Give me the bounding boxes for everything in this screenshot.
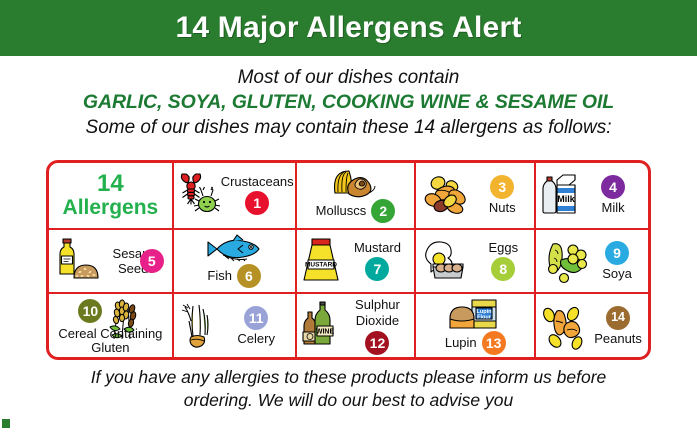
allergen-badge-1: 1 — [245, 191, 269, 215]
allergen-badge-3: 3 — [490, 175, 514, 199]
allergen-label: Milk — [601, 201, 624, 215]
mixed-nuts-icon — [419, 170, 473, 220]
celery-stalks-icon — [177, 301, 221, 351]
allergen-cell-sesame-seeds[interactable]: Sesame Seeds 5 — [49, 230, 172, 293]
allergen-badge-2: 2 — [371, 199, 395, 223]
footer-line-1: If you have any allergies to these produ… — [0, 366, 697, 389]
fish-icon — [203, 234, 265, 264]
allergen-badge-4: 4 — [601, 175, 625, 199]
mustard-text: Mustard 7 — [344, 241, 412, 281]
lobster-crab-icon — [177, 170, 223, 220]
molluscs-text: Molluscs 2 — [300, 167, 412, 223]
sulphur-dioxide-text: Sulphur Dioxide 12 — [344, 297, 412, 355]
svg-text:WINE: WINE — [315, 328, 334, 335]
grid-title-cell: 14 Allergens — [49, 163, 172, 228]
allergen-badge-11: 11 — [244, 306, 268, 330]
allergen-cell-sulphur-dioxide[interactable]: WINE Sulphur Dioxide 12 — [295, 294, 415, 357]
allergen-label: Cereal Containing Gluten — [51, 327, 170, 355]
allergen-grid-row: 14 Allergens — [49, 163, 648, 228]
intro-text-block: Most of our dishes contain GARLIC, SOYA,… — [0, 56, 697, 140]
intro-line-2-common-ingredients: GARLIC, SOYA, GLUTEN, COOKING WINE & SES… — [0, 90, 697, 115]
sesame-oil-bun-icon — [52, 236, 104, 286]
allergen-badge-10: 10 — [78, 299, 102, 323]
allergen-label: Lupin — [445, 336, 477, 350]
header-banner: 14 Major Allergens Alert — [0, 0, 697, 56]
allergen-cell-peanuts[interactable]: 14 Peanuts — [534, 294, 648, 357]
allergen-badge-5: 5 — [140, 249, 164, 273]
shells-icon — [329, 167, 381, 199]
eggs-text: Eggs 8 — [475, 241, 531, 281]
peanuts-icon — [539, 301, 591, 351]
allergen-badge-13: 13 — [482, 331, 506, 355]
wine-bottles-icon: WINE — [300, 300, 344, 352]
allergen-label: Fish — [207, 269, 232, 283]
allergen-badge-9: 9 — [605, 241, 629, 265]
intro-line-3: Some of our dishes may contain these 14 … — [0, 115, 697, 140]
grid-title-word: Allergens — [63, 197, 159, 218]
soya-text: 9 Soya — [589, 241, 645, 281]
lupin-flour-bread-icon: Lupin Flour — [446, 297, 504, 331]
allergen-cell-fish[interactable]: Fish 6 — [172, 230, 295, 293]
allergen-label: Eggs — [488, 241, 518, 255]
page-title: 14 Major Allergens Alert — [175, 11, 521, 45]
allergen-label: Crustaceans — [221, 175, 294, 189]
lupin-text: Lupin Flour Lupin 13 — [419, 297, 531, 355]
allergen-cell-nuts[interactable]: 3 Nuts — [414, 163, 534, 228]
allergen-cell-cereal-gluten[interactable]: 10 — [49, 294, 172, 357]
sesame-seeds-text: Sesame Seeds 5 — [104, 246, 169, 276]
allergen-label: Molluscs — [316, 204, 367, 218]
allergen-label: Celery — [237, 332, 275, 346]
allergen-label: Peanuts — [594, 332, 642, 346]
svg-text:Flour: Flour — [477, 314, 492, 320]
allergen-badge-14: 14 — [606, 306, 630, 330]
grid-title-number: 14 — [97, 172, 124, 196]
allergen-cell-lupin[interactable]: Lupin Flour Lupin 13 — [414, 294, 534, 357]
allergen-badge-12: 12 — [365, 331, 389, 355]
nuts-text: 3 Nuts — [473, 175, 531, 215]
allergen-label: Sulphur Dioxide — [344, 297, 412, 329]
allergen-cell-celery[interactable]: 11 Celery — [172, 294, 295, 357]
crustaceans-text: Crustaceans 1 — [223, 175, 292, 215]
footer-disclaimer: If you have any allergies to these produ… — [0, 366, 697, 412]
allergen-badge-8: 8 — [491, 257, 515, 281]
allergen-label: Nuts — [489, 201, 516, 215]
peanuts-text: 14 Peanuts — [591, 306, 645, 346]
mustard-packet-icon: MUSTARD — [300, 236, 344, 286]
corner-mark — [2, 419, 10, 428]
milk-text: 4 Milk — [581, 175, 645, 215]
svg-text:MUSTARD: MUSTARD — [305, 261, 337, 268]
allergen-cell-molluscs[interactable]: Molluscs 2 — [295, 163, 415, 228]
svg-text:Milk: Milk — [557, 194, 575, 204]
celery-text: 11 Celery — [221, 306, 292, 346]
allergen-grid-row: 10 — [49, 292, 648, 357]
allergen-label: Mustard — [354, 241, 401, 255]
eggs-carton-icon — [419, 236, 475, 286]
allergen-label: Soya — [602, 267, 632, 281]
allergen-badge-6: 6 — [237, 264, 261, 288]
allergen-grid-row: Sesame Seeds 5 — [49, 228, 648, 293]
allergen-grid: 14 Allergens — [46, 160, 651, 360]
allergen-cell-crustaceans[interactable]: Crustaceans 1 — [172, 163, 295, 228]
intro-line-1: Most of our dishes contain — [0, 65, 697, 90]
footer-line-2: ordering. We will do our best to advise … — [0, 389, 697, 412]
allergen-badge-7: 7 — [365, 257, 389, 281]
fish-text: Fish 6 — [177, 234, 292, 288]
milk-bottle-carton-icon: Milk — [539, 171, 581, 219]
allergen-cell-eggs[interactable]: Eggs 8 — [414, 230, 534, 293]
cereal-gluten-text: 10 — [51, 297, 170, 355]
allergen-cell-mustard[interactable]: MUSTARD Mustard 7 — [295, 230, 415, 293]
allergen-cell-soya[interactable]: 9 Soya — [534, 230, 648, 293]
allergen-cell-milk[interactable]: Milk 4 Milk — [534, 163, 648, 228]
soya-beans-icon — [539, 236, 589, 286]
